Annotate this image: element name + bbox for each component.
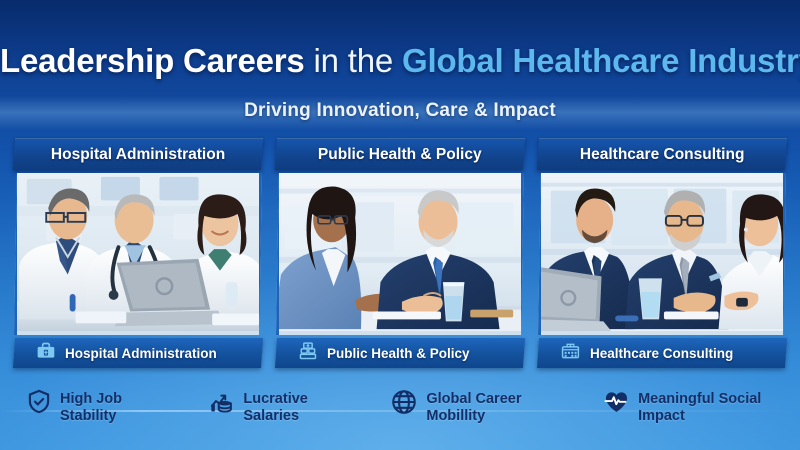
consulting-team-image [541, 173, 783, 331]
card-footer-label: Healthcare Consulting [590, 346, 733, 361]
feature-global-career-mobility[interactable]: Global Career Mobillity [390, 386, 573, 425]
banner-canvas: Leadership Careers in the Global Healthc… [0, 0, 800, 450]
globe-icon [390, 388, 418, 421]
career-card-public-health-policy[interactable]: Public Health & Policy [276, 138, 524, 378]
feature-meaningful-social-impact[interactable]: Meaningful Social Impact [603, 386, 800, 425]
card-footer-bar: Public Health & Policy [275, 338, 525, 368]
clinic-building-icon [560, 341, 581, 366]
card-footer-label: Public Health & Policy [327, 346, 470, 361]
feature-lucrative-salaries[interactable]: Lucrative Salaries [209, 386, 358, 425]
card-photo [276, 173, 524, 335]
feature-label: Lucrative Salaries [243, 386, 358, 425]
card-footer-bar: Hospital Administration [13, 338, 263, 368]
medical-briefcase-icon [36, 341, 56, 366]
page-title: Leadership Careers in the Global Healthc… [0, 42, 800, 80]
money-growth-icon [209, 388, 235, 420]
feature-label: Global Career Mobillity [426, 386, 573, 425]
title-part-connector: in the [305, 42, 402, 79]
title-part-accent: Global Healthcare Industry [402, 42, 800, 79]
doctors-with-laptop-image [17, 173, 259, 331]
card-photo [538, 173, 786, 335]
card-header-bar: Public Health & Policy [275, 138, 525, 170]
card-header-label: Hospital Administration [51, 146, 225, 164]
feature-strip: High Job Stability Lucrative Salaries [0, 386, 800, 436]
feature-label: Meaningful Social Impact [638, 386, 800, 425]
card-header-bar: Healthcare Consulting [537, 138, 787, 170]
career-card-grid: Hospital Administration [14, 138, 786, 378]
hospital-building-icon [298, 341, 318, 366]
feature-label: High Job Stability [60, 386, 173, 425]
card-footer-label: Hospital Administration [65, 346, 217, 361]
page-subtitle: Driving Innovation, Care & Impact [0, 100, 800, 122]
card-header-label: Healthcare Consulting [580, 146, 745, 164]
card-header-bar: Hospital Administration [13, 138, 263, 170]
card-header-label: Public Health & Policy [318, 146, 482, 164]
card-footer-bar: Healthcare Consulting [537, 338, 787, 368]
title-part-primary: Leadership Careers [0, 42, 305, 79]
heart-pulse-icon [603, 388, 630, 420]
feature-high-job-stability[interactable]: High Job Stability [26, 386, 173, 425]
card-photo [14, 173, 262, 335]
shield-check-icon [26, 388, 52, 420]
professionals-meeting-image [279, 173, 521, 331]
career-card-hospital-administration[interactable]: Hospital Administration [14, 138, 262, 378]
career-card-healthcare-consulting[interactable]: Healthcare Consulting [538, 138, 786, 378]
